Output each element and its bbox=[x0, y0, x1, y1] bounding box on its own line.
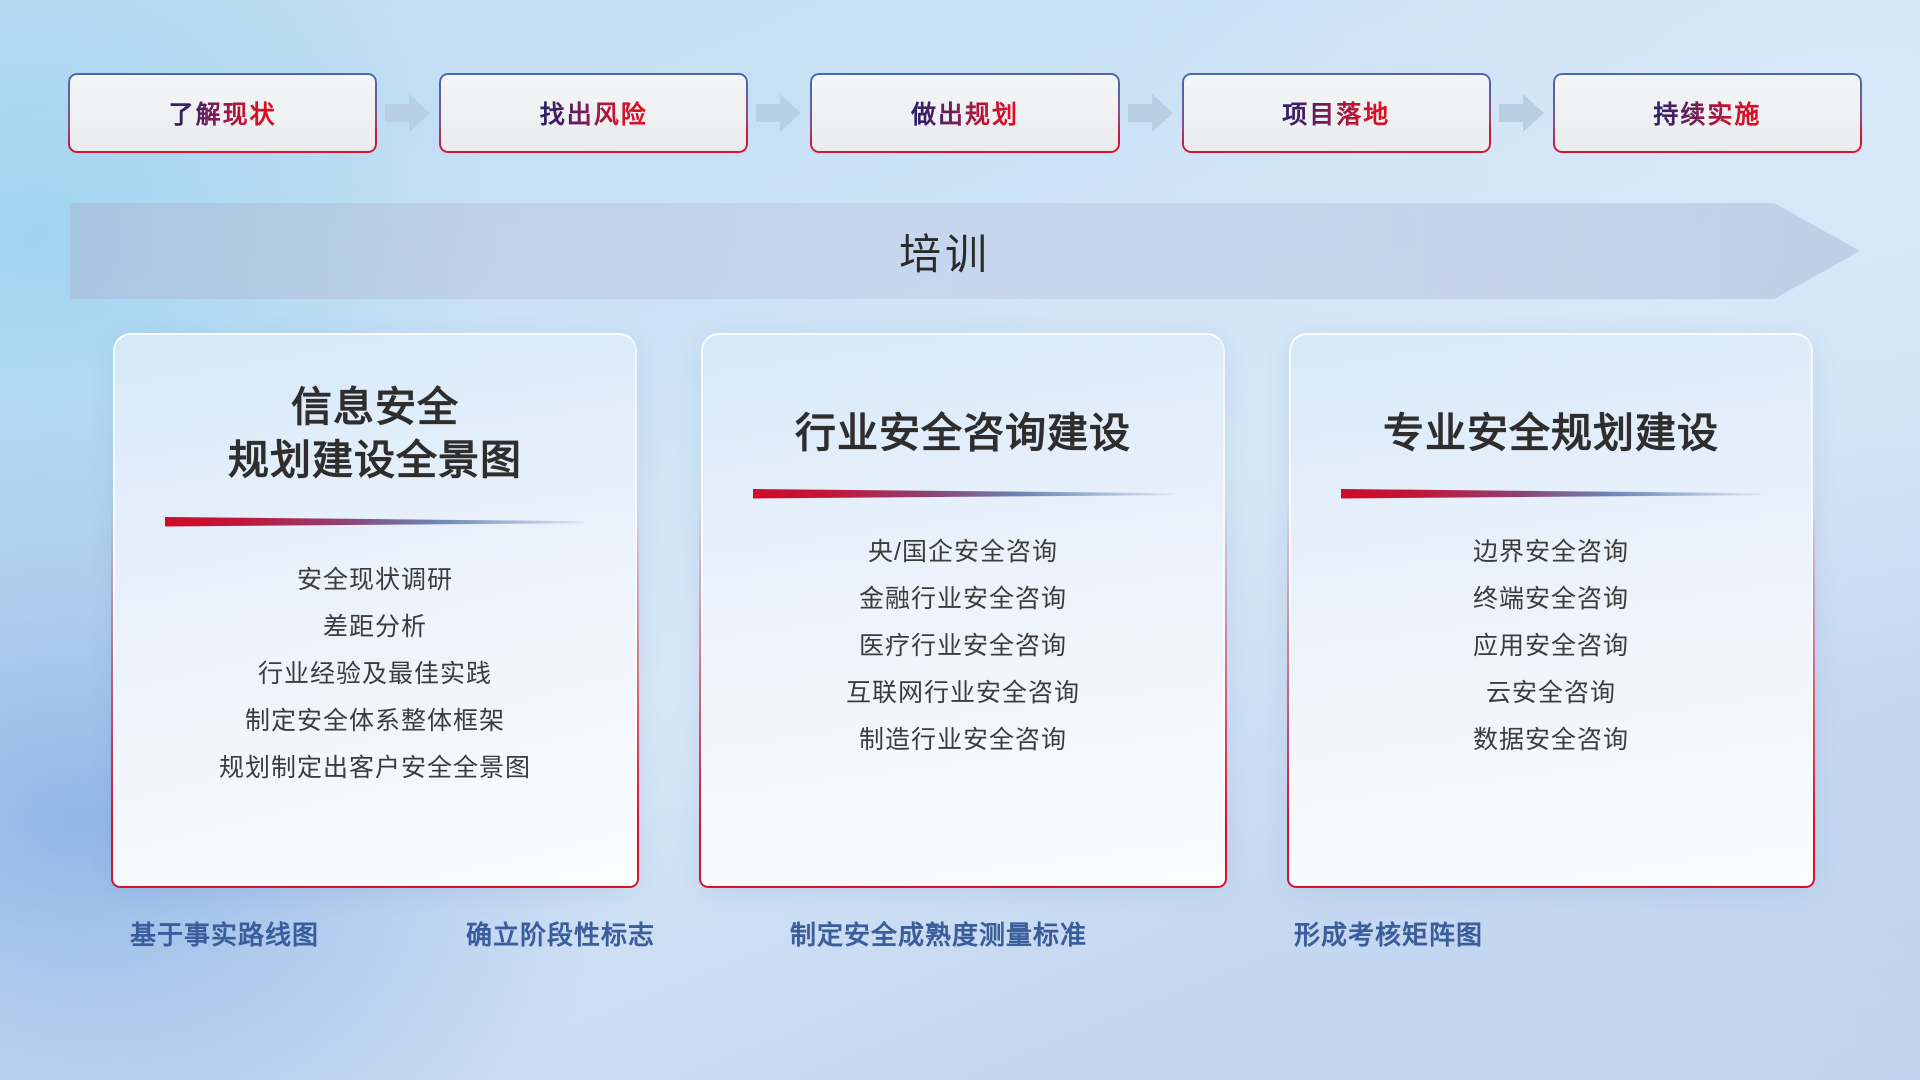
process-step-3[interactable]: 做出规划 bbox=[812, 75, 1117, 151]
process-step-label: 项目落地 bbox=[1282, 95, 1390, 131]
process-step-row: 了解现状找出风险做出规划项目落地持续实施 bbox=[70, 75, 1860, 151]
list-item: 行业经验及最佳实践 bbox=[113, 651, 637, 698]
service-card-2[interactable]: 行业安全咨询建设央/国企安全咨询金融行业安全咨询医疗行业安全咨询互联网行业安全咨… bbox=[701, 333, 1225, 886]
list-item: 央/国企安全咨询 bbox=[701, 529, 1225, 576]
process-step-label: 持续实施 bbox=[1653, 95, 1761, 131]
right-arrow-icon bbox=[746, 75, 812, 151]
service-card-title: 行业安全咨询建设 bbox=[795, 407, 1131, 460]
list-item: 安全现状调研 bbox=[113, 557, 637, 604]
service-card-title: 专业安全规划建设 bbox=[1383, 407, 1719, 460]
process-step-label: 了解现状 bbox=[169, 95, 277, 131]
list-item: 制定安全体系整体框架 bbox=[113, 698, 637, 745]
list-item: 医疗行业安全咨询 bbox=[701, 623, 1225, 670]
list-item: 规划制定出客户安全全景图 bbox=[113, 745, 637, 792]
service-card-3[interactable]: 专业安全规划建设边界安全咨询终端安全咨询应用安全咨询云安全咨询数据安全咨询 bbox=[1289, 333, 1813, 886]
banner-title: 培训 bbox=[70, 203, 1860, 299]
service-card-row: 信息安全 规划建设全景图安全现状调研差距分析行业经验及最佳实践制定安全体系整体框… bbox=[113, 333, 1813, 886]
footer-label-2: 确立阶段性标志 bbox=[466, 915, 655, 952]
list-item: 终端安全咨询 bbox=[1289, 576, 1813, 623]
list-item: 应用安全咨询 bbox=[1289, 623, 1813, 670]
list-item: 差距分析 bbox=[113, 604, 637, 651]
card-accent-rule bbox=[1341, 486, 1760, 499]
list-item: 数据安全咨询 bbox=[1289, 717, 1813, 764]
footer-label-3: 制定安全成熟度测量标准 bbox=[790, 915, 1087, 952]
card-accent-rule bbox=[753, 486, 1172, 499]
service-card-1[interactable]: 信息安全 规划建设全景图安全现状调研差距分析行业经验及最佳实践制定安全体系整体框… bbox=[113, 333, 637, 886]
right-arrow-icon bbox=[375, 75, 441, 151]
card-accent-rule bbox=[165, 514, 584, 527]
list-item: 制造行业安全咨询 bbox=[701, 717, 1225, 764]
list-item: 互联网行业安全咨询 bbox=[701, 670, 1225, 717]
right-arrow-icon bbox=[1489, 75, 1555, 151]
footer-label-4: 形成考核矩阵图 bbox=[1294, 915, 1483, 952]
process-step-label: 找出风险 bbox=[540, 95, 648, 131]
list-item: 云安全咨询 bbox=[1289, 670, 1813, 717]
service-card-list: 安全现状调研差距分析行业经验及最佳实践制定安全体系整体框架规划制定出客户安全全景… bbox=[113, 557, 637, 792]
list-item: 边界安全咨询 bbox=[1289, 529, 1813, 576]
process-step-5[interactable]: 持续实施 bbox=[1555, 75, 1860, 151]
right-arrow-icon bbox=[1118, 75, 1184, 151]
process-step-1[interactable]: 了解现状 bbox=[70, 75, 375, 151]
training-banner: 培训 bbox=[70, 203, 1860, 299]
service-card-title: 信息安全 规划建设全景图 bbox=[228, 381, 522, 488]
process-step-2[interactable]: 找出风险 bbox=[441, 75, 746, 151]
service-card-list: 边界安全咨询终端安全咨询应用安全咨询云安全咨询数据安全咨询 bbox=[1289, 529, 1813, 764]
footer-label-row: 基于事实路线图确立阶段性标志制定安全成熟度测量标准形成考核矩阵图 bbox=[0, 915, 1920, 959]
list-item: 金融行业安全咨询 bbox=[701, 576, 1225, 623]
service-card-list: 央/国企安全咨询金融行业安全咨询医疗行业安全咨询互联网行业安全咨询制造行业安全咨… bbox=[701, 529, 1225, 764]
footer-label-1: 基于事实路线图 bbox=[130, 915, 319, 952]
process-step-label: 做出规划 bbox=[911, 95, 1019, 131]
process-step-4[interactable]: 项目落地 bbox=[1184, 75, 1489, 151]
slide-canvas: 了解现状找出风险做出规划项目落地持续实施 培训 信息安全 规划建设全景图安全现状… bbox=[0, 0, 1920, 1080]
